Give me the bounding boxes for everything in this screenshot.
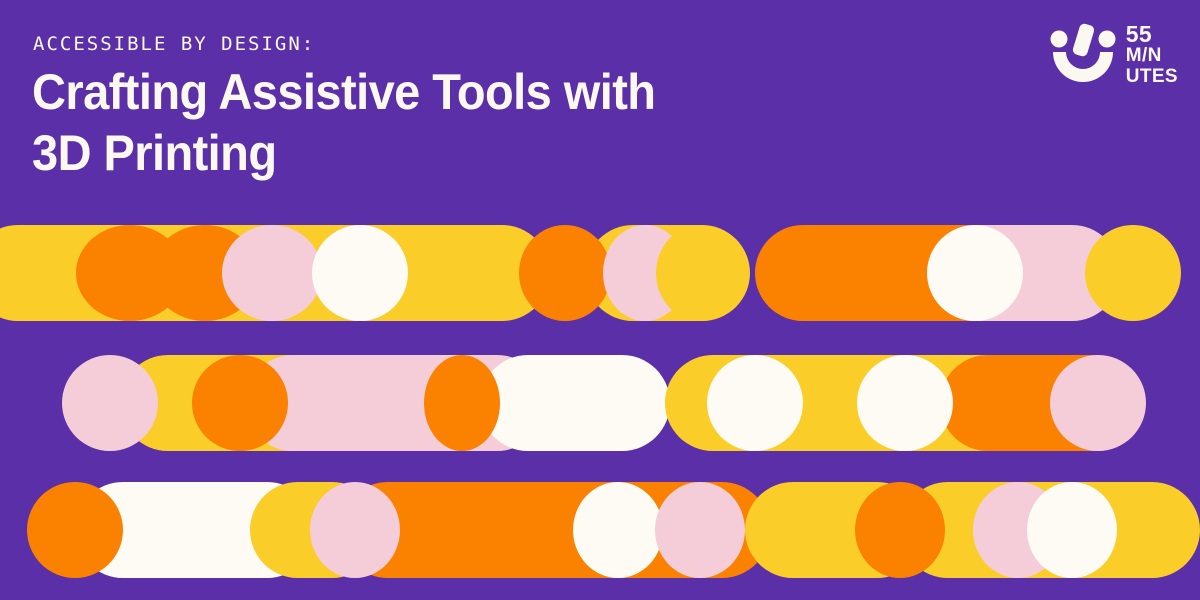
pattern-bar [585,225,750,321]
pattern-row-2 [62,355,1146,451]
pattern-circle [1027,482,1117,578]
pattern-bar [480,355,670,451]
pattern-bar [250,482,380,578]
event-banner: ACCESSIBLE BY DESIGN: Crafting Assistive… [0,0,1200,600]
pattern-circle [603,225,687,321]
pattern-circle [855,482,945,578]
brand-logo: 55 M/N UTES [1018,22,1178,102]
logo-line-3: UTES [1126,66,1178,87]
pattern-circle [151,225,259,321]
pattern-circle [1085,225,1181,321]
pattern-circle [424,355,500,451]
pattern-row-1 [0,225,1181,321]
header: ACCESSIBLE BY DESIGN: Crafting Assistive… [0,0,1200,215]
pattern-circle [973,482,1063,578]
pattern-circle [1050,355,1146,451]
pattern-bar [0,225,390,321]
pattern-circle [192,355,288,451]
pattern-circle [573,482,663,578]
page-title: Crafting Assistive Tools with 3D Printin… [32,62,746,184]
logo-line-1: 55 [1126,24,1178,45]
pattern-circle [656,225,744,321]
pattern-circle [62,355,158,451]
pattern-bar [340,482,770,578]
pattern-bar [940,355,1140,451]
pattern-bar [900,482,1200,578]
eyebrow-text: ACCESSIBLE BY DESIGN: [33,33,315,55]
pattern-circle [27,482,123,578]
pattern-bar [930,225,1120,321]
pattern-bar [120,355,420,451]
pattern-bar [745,482,925,578]
pattern-circle [927,225,1023,321]
pattern-circle [655,482,745,578]
pattern-row-3 [27,482,1200,578]
smiley-face-icon [1047,22,1119,84]
pattern-bar [665,355,1065,451]
logo-line-2: M/N [1126,45,1178,66]
pattern-bar [245,355,545,451]
pattern-circle [76,225,184,321]
logo-wordmark: 55 M/N UTES [1126,24,1178,87]
pattern-circle [707,355,803,451]
pattern-circle [310,482,400,578]
pattern-bar [75,482,315,578]
pattern-circle [222,225,322,321]
pattern-circle [312,225,408,321]
pattern-bar [300,225,550,321]
pattern-bar [755,225,1115,321]
headline-line-2: 3D Printing [32,123,746,184]
pattern-circle [519,225,611,321]
pattern-circle [857,355,953,451]
headline-line-1: Crafting Assistive Tools with [32,62,746,123]
